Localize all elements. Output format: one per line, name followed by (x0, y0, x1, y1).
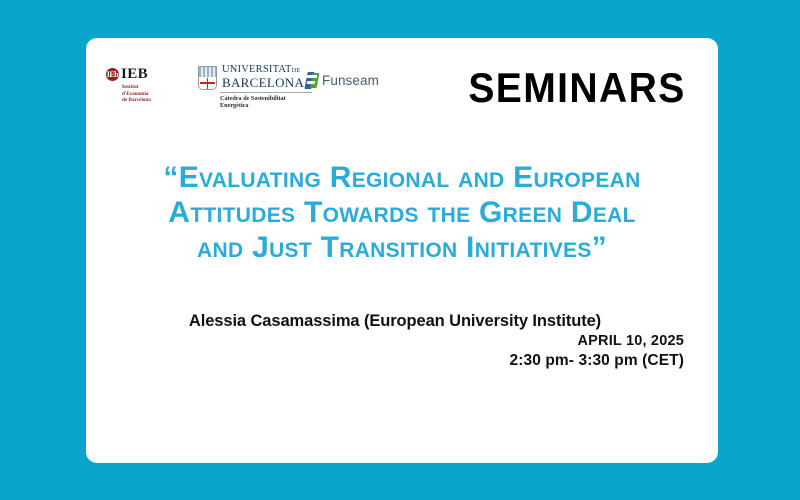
funseam-f-mark-icon (306, 72, 319, 89)
ub-crest-icon (198, 66, 217, 90)
ub-wordmark-line-2: BARCELONA (222, 76, 304, 90)
seminar-details: Alessia Casamassima (European University… (106, 310, 684, 371)
ieb-wordmark: IEB (121, 67, 148, 82)
ub-logo-head: UNIVERSITATDE BARCELONA (198, 64, 318, 90)
ub-universitat-text: UNIVERSITAT (222, 64, 292, 75)
ieb-subtitle-line-2: d'Economia (122, 91, 180, 98)
ub-divider (220, 92, 312, 93)
logo-row: IEb IEB Institut d'Economia de Barcelona (106, 64, 396, 124)
ub-de-text: DE (292, 67, 301, 74)
seminar-poster: IEb IEB Institut d'Economia de Barcelona (0, 0, 800, 500)
ieb-seal-icon: IEb (106, 68, 119, 81)
seminars-heading: SEMINARS (469, 66, 686, 110)
seminar-time: 2:30 pm- 3:30 pm (CET) (106, 351, 684, 371)
ub-subtitle-line-1: Càtedra de Sostenibilitat (220, 95, 320, 103)
seminar-title: “Evaluating Regional and European Attitu… (106, 160, 698, 265)
poster-card: IEb IEB Institut d'Economia de Barcelona (86, 38, 718, 463)
seminar-title-line-2: Attitudes Towards the Green Deal (106, 195, 698, 230)
ub-subtitle-line-2: Energètica (220, 102, 320, 110)
ieb-subtitle: Institut d'Economia de Barcelona (122, 84, 180, 104)
funseam-wordmark: Funseam (322, 74, 379, 88)
universitat-de-barcelona-logo: UNIVERSITATDE BARCELONA Càtedra de Soste… (198, 64, 318, 110)
speaker-name: Alessia Casamassima (European University… (106, 310, 684, 332)
ub-subtitle: Càtedra de Sostenibilitat Energètica (220, 95, 320, 110)
funseam-logo-inner: Funseam (306, 72, 379, 89)
ieb-logo-top: IEb IEB (106, 66, 180, 82)
ieb-subtitle-line-3: de Barcelona (122, 97, 180, 104)
ieb-subtitle-line-1: Institut (122, 84, 180, 91)
ub-wordmark: UNIVERSITATDE BARCELONA (222, 64, 304, 90)
seminar-title-line-1: “Evaluating Regional and European (106, 160, 698, 195)
funseam-logo: Funseam (306, 72, 379, 89)
ieb-logo: IEb IEB Institut d'Economia de Barcelona (106, 66, 180, 104)
seminar-title-line-3: and Just Transition Initiatives” (106, 230, 698, 265)
seminar-date: APRIL 10, 2025 (106, 332, 684, 351)
